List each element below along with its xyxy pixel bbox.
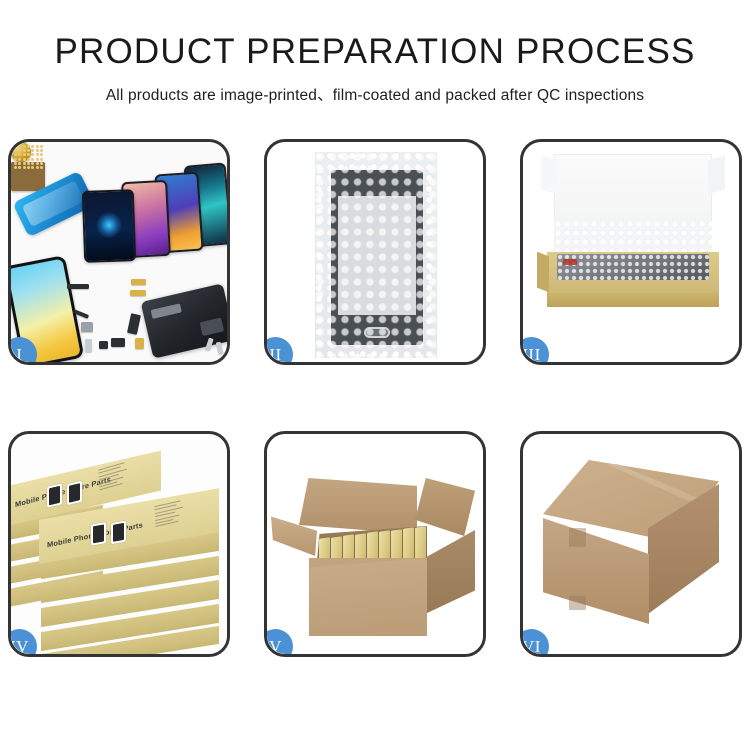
phone-screen-fill — [113, 523, 124, 542]
phone-mainboard — [141, 283, 227, 358]
box-phone-graphic — [47, 483, 62, 507]
process-step-1[interactable]: I — [8, 139, 230, 365]
bubble-wrap-sheet — [315, 152, 437, 358]
phone-screen-fill — [69, 483, 80, 503]
box-phone-graphic — [67, 481, 82, 505]
chip-array-part — [11, 162, 45, 191]
step-4-image: Mobile Phone Spare PartsMobile Phone Spa… — [11, 434, 227, 654]
box-brand-label: Mobile Phone Spare Parts — [15, 475, 111, 509]
page-subtitle: All products are image-printed、film-coat… — [0, 83, 750, 105]
phone-screen-fill — [49, 486, 60, 506]
phone-screen-fill — [93, 524, 104, 543]
page-title: PRODUCT PREPARATION PROCESS — [0, 32, 750, 72]
red-label-icon — [563, 259, 577, 265]
box-spec-lines — [98, 462, 127, 493]
sealed-carton-front — [543, 518, 649, 624]
step-3-image: III — [523, 142, 739, 362]
small-part-speaker — [67, 284, 89, 289]
packed-screen — [557, 254, 709, 280]
box-spec-lines — [154, 500, 183, 530]
carton-front — [309, 558, 427, 636]
small-part-button — [85, 339, 92, 352]
small-part-gold-clip — [135, 338, 144, 349]
step-badge-3: III — [523, 337, 549, 362]
process-step-3[interactable]: III — [520, 139, 742, 365]
small-part-camera — [99, 341, 108, 349]
box-phone-graphic — [111, 521, 126, 545]
process-step-2[interactable]: II — [264, 139, 486, 365]
header: PRODUCT PREPARATION PROCESS All products… — [0, 0, 750, 105]
small-part-strip — [127, 313, 141, 335]
small-part-screw-2 — [216, 342, 224, 355]
step-badge-5: V — [267, 629, 293, 654]
carton-seam-tab — [569, 528, 586, 547]
step-5-image: V — [267, 434, 483, 654]
small-part-metal — [81, 322, 93, 332]
step-badge-2: II — [267, 337, 293, 362]
small-part-flex-gold — [131, 279, 146, 285]
step-2-image: II — [267, 142, 483, 362]
process-step-5[interactable]: V — [264, 431, 486, 657]
step-6-image: VI — [523, 434, 739, 654]
kraft-box-stack: Mobile Phone Spare PartsMobile Phone Spa… — [11, 434, 227, 654]
process-grid: I II III Mobile Phone Spare PartsMobile … — [8, 139, 742, 657]
small-part-bracket — [111, 338, 125, 347]
process-step-6[interactable]: VI — [520, 431, 742, 657]
box-phone-graphic — [91, 522, 106, 546]
phone-screen-dark — [82, 189, 136, 263]
wrapped-screen — [331, 170, 423, 345]
carton-side-right — [425, 530, 475, 614]
step-1-image: I — [11, 142, 227, 362]
step-badge-6: VI — [523, 629, 549, 654]
home-button — [364, 327, 390, 338]
small-part-flex-gold-2 — [130, 290, 146, 296]
carton-seam-tab-2 — [569, 596, 586, 610]
process-step-4[interactable]: Mobile Phone Spare PartsMobile Phone Spa… — [8, 431, 230, 657]
